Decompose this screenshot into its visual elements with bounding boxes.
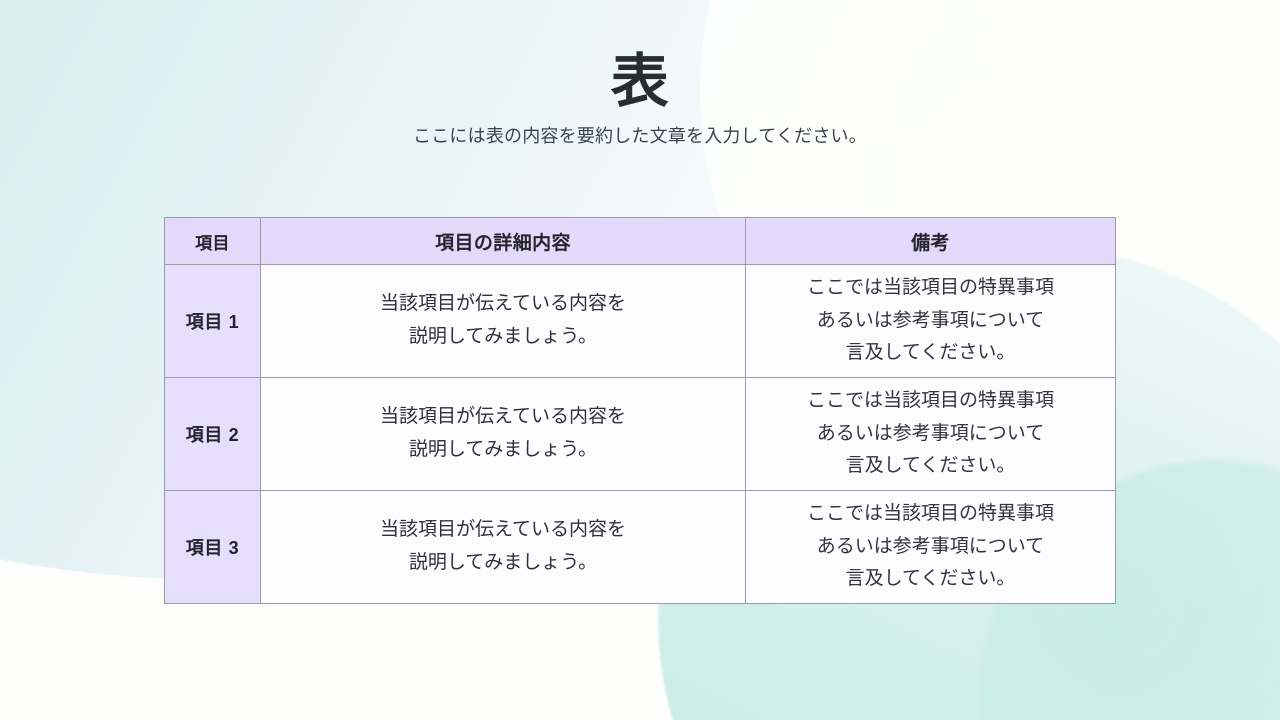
remark-line-3: 言及してください。 bbox=[746, 450, 1115, 483]
row-remark-cell: ここでは当該項目の特異事項 あるいは参考事項について 言及してください。 bbox=[746, 378, 1116, 491]
slide-header: 表 ここには表の内容を要約した文章を入力してください。 bbox=[0, 52, 1280, 149]
column-header-item: 項目 bbox=[165, 218, 261, 265]
page-title: 表 bbox=[0, 52, 1280, 111]
detail-line-2: 説明してみましょう。 bbox=[261, 321, 745, 354]
row-detail-cell: 当該項目が伝えている内容を 説明してみましょう。 bbox=[261, 491, 746, 604]
column-header-remark: 備考 bbox=[746, 218, 1116, 265]
remark-line-2: あるいは参考事項について bbox=[746, 418, 1115, 451]
row-label-cell: 項目 2 bbox=[165, 378, 261, 491]
row-remark-cell: ここでは当該項目の特異事項 あるいは参考事項について 言及してください。 bbox=[746, 265, 1116, 378]
table-header-row: 項目 項目の詳細内容 備考 bbox=[165, 218, 1116, 265]
detail-text: 当該項目が伝えている内容を 説明してみましょう。 bbox=[261, 401, 745, 466]
remark-line-2: あるいは参考事項について bbox=[746, 531, 1115, 564]
detail-text: 当該項目が伝えている内容を 説明してみましょう。 bbox=[261, 514, 745, 579]
detail-line-1: 当該項目が伝えている内容を bbox=[261, 401, 745, 434]
remark-line-1: ここでは当該項目の特異事項 bbox=[746, 498, 1115, 531]
remark-line-3: 言及してください。 bbox=[746, 563, 1115, 596]
remark-text: ここでは当該項目の特異事項 あるいは参考事項について 言及してください。 bbox=[746, 272, 1115, 370]
remark-line-1: ここでは当該項目の特異事項 bbox=[746, 385, 1115, 418]
table-body: 項目 1 当該項目が伝えている内容を 説明してみましょう。 ここでは当該項目の特… bbox=[165, 265, 1116, 604]
remark-text: ここでは当該項目の特異事項 あるいは参考事項について 言及してください。 bbox=[746, 385, 1115, 483]
table-row: 項目 2 当該項目が伝えている内容を 説明してみましょう。 ここでは当該項目の特… bbox=[165, 378, 1116, 491]
detail-line-2: 説明してみましょう。 bbox=[261, 547, 745, 580]
remark-line-1: ここでは当該項目の特異事項 bbox=[746, 272, 1115, 305]
row-label-cell: 項目 3 bbox=[165, 491, 261, 604]
slide-subtitle: ここには表の内容を要約した文章を入力してください。 bbox=[0, 125, 1280, 148]
row-detail-cell: 当該項目が伝えている内容を 説明してみましょう。 bbox=[261, 265, 746, 378]
slide-canvas: 表 ここには表の内容を要約した文章を入力してください。 項目 項目の詳細内容 備… bbox=[0, 0, 1280, 720]
detail-line-2: 説明してみましょう。 bbox=[261, 434, 745, 467]
table-row: 項目 3 当該項目が伝えている内容を 説明してみましょう。 ここでは当該項目の特… bbox=[165, 491, 1116, 604]
remark-text: ここでは当該項目の特異事項 あるいは参考事項について 言及してください。 bbox=[746, 498, 1115, 596]
column-header-detail: 項目の詳細内容 bbox=[261, 218, 746, 265]
row-remark-cell: ここでは当該項目の特異事項 あるいは参考事項について 言及してください。 bbox=[746, 491, 1116, 604]
content-table: 項目 項目の詳細内容 備考 項目 1 当該項目が伝えている内容を 説明してみまし… bbox=[164, 217, 1116, 604]
table-row: 項目 1 当該項目が伝えている内容を 説明してみましょう。 ここでは当該項目の特… bbox=[165, 265, 1116, 378]
table-header: 項目 項目の詳細内容 備考 bbox=[165, 218, 1116, 265]
detail-line-1: 当該項目が伝えている内容を bbox=[261, 288, 745, 321]
remark-line-3: 言及してください。 bbox=[746, 337, 1115, 370]
row-label-cell: 項目 1 bbox=[165, 265, 261, 378]
row-detail-cell: 当該項目が伝えている内容を 説明してみましょう。 bbox=[261, 378, 746, 491]
table-container: 項目 項目の詳細内容 備考 項目 1 当該項目が伝えている内容を 説明してみまし… bbox=[164, 217, 1115, 604]
remark-line-2: あるいは参考事項について bbox=[746, 305, 1115, 338]
detail-line-1: 当該項目が伝えている内容を bbox=[261, 514, 745, 547]
detail-text: 当該項目が伝えている内容を 説明してみましょう。 bbox=[261, 288, 745, 353]
